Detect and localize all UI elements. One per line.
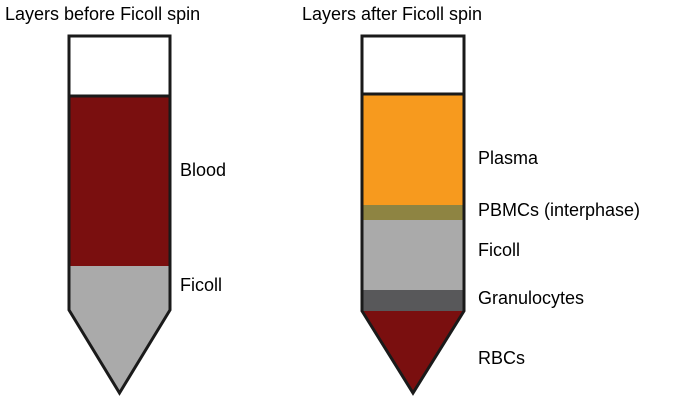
label-ficoll-before: Ficoll (180, 275, 222, 295)
label-granulocytes: Granulocytes (478, 288, 584, 308)
label-plasma: Plasma (478, 148, 538, 168)
tube-after-ficoll-spin (355, 30, 475, 400)
layer-plasma (362, 94, 464, 205)
layer-ficoll-after (362, 220, 464, 290)
layer-blood (69, 96, 170, 266)
layer-rbcs (362, 311, 464, 394)
layer-granulocytes (362, 290, 464, 311)
layer-ficoll-before (69, 266, 170, 394)
tube-before-ficoll-spin (62, 30, 182, 400)
layer-pbmcs (362, 205, 464, 220)
label-blood: Blood (180, 160, 226, 180)
label-pbmcs: PBMCs (interphase) (478, 200, 640, 220)
label-ficoll-after: Ficoll (478, 240, 520, 260)
panel-title-before: Layers before Ficoll spin (5, 4, 200, 24)
label-rbcs: RBCs (478, 348, 525, 368)
layer-empty-after (362, 36, 464, 94)
figure-canvas: Layers before Ficoll spin Blood Ficoll L… (0, 0, 675, 401)
panel-title-after: Layers after Ficoll spin (302, 4, 482, 24)
layer-empty-before (69, 36, 170, 96)
